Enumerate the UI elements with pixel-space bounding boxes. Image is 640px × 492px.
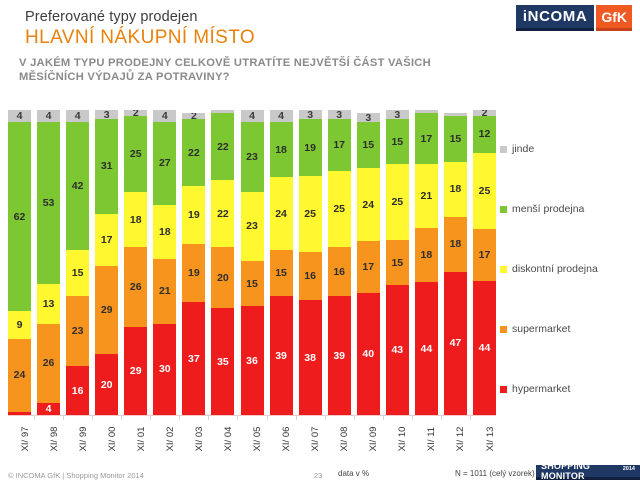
bar-segment-supermarket[interactable]: 15 — [270, 250, 293, 296]
x-axis-tick-label: XI/ 02 — [153, 419, 176, 463]
bar-column[interactable]: 442152316 — [66, 110, 89, 415]
bar-segment-hypermarket[interactable]: 43 — [386, 285, 409, 415]
stacked-bar-chart: 4629244531326444215231633117292022518262… — [8, 110, 496, 415]
x-axis-tick-label: XI/ 99 — [66, 419, 89, 463]
bar-segment-hypermarket[interactable]: 44 — [415, 282, 438, 415]
incoma-logo-text: iNCOMA — [516, 5, 594, 31]
legend-item-diskontní[interactable]: diskontní prodejna — [500, 263, 598, 275]
x-axis-tick-mark — [325, 415, 326, 420]
bar-segment-jinde[interactable]: 4 — [241, 110, 264, 122]
bar-segment-menší[interactable]: 15 — [357, 122, 380, 168]
bar-segment-diskontní[interactable]: 17 — [95, 214, 118, 266]
slide-footer: © INCOMA GfK | Shopping Monitor 2014 23 … — [0, 462, 640, 492]
bar-segment-hypermarket[interactable]: 4 — [37, 403, 60, 415]
bar-column[interactable]: 222191937 — [182, 110, 205, 415]
x-axis-tick-mark — [383, 415, 384, 420]
bar-segment-jinde[interactable]: 4 — [66, 110, 89, 122]
bar-segment-menší[interactable]: 17 — [415, 113, 438, 164]
bar-segment-menší[interactable]: 53 — [37, 122, 60, 284]
slide-header: Preferované typy prodejen HLAVNÍ NÁKUPNÍ… — [0, 0, 640, 92]
x-axis-tick-label: XI/ 06 — [270, 419, 293, 463]
x-axis-tick-label: XI/ 98 — [37, 419, 60, 463]
bar-segment-supermarket[interactable]: 18 — [415, 228, 438, 282]
bar-column[interactable]: 319251638 — [299, 110, 322, 415]
legend-label: jinde — [512, 143, 534, 155]
bar-segment-jinde[interactable]: 3 — [386, 110, 409, 119]
bar-segment-hypermarket[interactable]: 36 — [241, 306, 264, 415]
footer-sample-size: N = 1011 (celý vzorek) — [455, 469, 535, 478]
bar-segment-supermarket[interactable]: 16 — [328, 247, 351, 296]
x-axis-tick-label: XI/ 13 — [473, 419, 496, 463]
bar-segment-hypermarket[interactable]: 47 — [444, 272, 467, 415]
legend-label: diskontní prodejna — [512, 263, 598, 275]
bar-column[interactable]: 427182130 — [153, 110, 176, 415]
bar-segment-supermarket[interactable]: 19 — [182, 244, 205, 302]
bar-segment-supermarket[interactable]: 17 — [357, 241, 380, 293]
x-axis-tick-label: XI/ 11 — [415, 419, 438, 463]
question-subtitle: V JAKÉM TYPU PRODEJNY CELKOVĚ UTRATÍTE N… — [19, 56, 489, 84]
bar-column[interactable]: 418241539 — [270, 110, 293, 415]
bar-segment-jinde[interactable]: 4 — [37, 110, 60, 122]
legend-swatch-icon — [500, 266, 507, 273]
x-axis-tick-label: XI/ 97 — [8, 419, 31, 463]
bar-segment-diskontní[interactable]: 23 — [241, 192, 264, 261]
bar-segment-diskontní[interactable]: 24 — [357, 168, 380, 241]
x-axis-tick-label: XI/ 05 — [241, 419, 264, 463]
x-axis-tick-label: XI/ 04 — [211, 419, 234, 463]
x-axis-tick-mark — [441, 415, 442, 420]
legend-swatch-icon — [500, 386, 507, 393]
x-axis-tick-mark — [267, 415, 268, 420]
bar-segment-hypermarket[interactable]: 35 — [211, 308, 234, 415]
x-axis-tick-mark — [150, 415, 151, 420]
incoma-gfk-logo: iNCOMA GfK — [516, 5, 632, 31]
x-axis-line — [8, 415, 496, 416]
bar-segment-diskontní[interactable]: 9 — [8, 311, 31, 338]
bar-segment-supermarket[interactable]: 26 — [124, 247, 147, 326]
x-axis-tick-mark — [121, 415, 122, 420]
bar-segment-menší[interactable]: 15 — [386, 119, 409, 164]
page-title: HLAVNÍ NÁKUPNÍ MÍSTO — [25, 27, 255, 49]
bar-segment-supermarket[interactable]: 16 — [299, 252, 322, 300]
bar-segment-hypermarket[interactable]: 37 — [182, 302, 205, 415]
bar-segment-menší[interactable]: 42 — [66, 122, 89, 250]
bar-segment-diskontní[interactable]: 25 — [386, 164, 409, 240]
bar-segment-menší[interactable]: 62 — [8, 122, 31, 311]
bar-segment-hypermarket[interactable]: 39 — [270, 296, 293, 415]
legend-label: supermarket — [512, 323, 570, 335]
bar-segment-diskontní[interactable]: 13 — [37, 284, 60, 324]
bar-segment-menší[interactable]: 31 — [95, 119, 118, 214]
x-axis-tick-label: XI/ 03 — [182, 419, 205, 463]
bar-segment-jinde[interactable]: 4 — [153, 110, 176, 122]
gfk-logo-text: GfK — [596, 5, 632, 31]
bar-column[interactable]: 462924 — [8, 110, 31, 415]
bar-segment-jinde[interactable]: 3 — [357, 113, 380, 122]
bar-segment-supermarket[interactable]: 26 — [37, 324, 60, 403]
x-axis-tick-label: XI/ 10 — [386, 419, 409, 463]
bar-column[interactable]: 15181847 — [444, 110, 467, 415]
bar-segment-jinde[interactable]: 4 — [270, 110, 293, 122]
bar-column[interactable]: 22222035 — [211, 110, 234, 415]
bar-segment-hypermarket[interactable]: 16 — [66, 366, 89, 415]
bar-segment-menší[interactable]: 12 — [473, 116, 496, 153]
bar-segment-supermarket[interactable]: 15 — [386, 240, 409, 285]
bar-segment-diskontní[interactable]: 19 — [182, 186, 205, 244]
bar-segment-diskontní[interactable]: 18 — [153, 205, 176, 260]
legend-swatch-icon — [500, 206, 507, 213]
legend-item-hypermarket[interactable]: hypermarket — [500, 383, 570, 395]
bar-segment-menší[interactable]: 22 — [182, 119, 205, 186]
x-axis-tick-label: XI/ 09 — [357, 419, 380, 463]
bar-segment-jinde[interactable]: 3 — [328, 110, 351, 119]
x-axis-tick-mark — [92, 415, 93, 420]
badge-title: SHOPPING MONITOR — [541, 461, 621, 481]
legend-item-supermarket[interactable]: supermarket — [500, 323, 570, 335]
bar-segment-jinde[interactable]: 3 — [95, 110, 118, 119]
bar-column[interactable]: 225182629 — [124, 110, 147, 415]
x-axis-tick-label: XI/ 00 — [95, 419, 118, 463]
x-axis-tick-mark — [470, 415, 471, 420]
x-axis-tick-mark — [63, 415, 64, 420]
bar-column[interactable]: 317251639 — [328, 110, 351, 415]
legend-item-menší[interactable]: menší prodejna — [500, 203, 584, 215]
bar-segment-diskontní[interactable]: 18 — [444, 162, 467, 217]
bar-column[interactable]: 315251543 — [386, 110, 409, 415]
bar-segment-hypermarket[interactable]: 38 — [299, 300, 322, 415]
x-axis-tick-label: XI/ 08 — [328, 419, 351, 463]
bar-segment-supermarket[interactable]: 24 — [8, 339, 31, 412]
x-axis-tick-label: XI/ 01 — [124, 419, 147, 463]
bar-segment-hypermarket[interactable]: 44 — [473, 281, 496, 415]
bar-segment-diskontní[interactable]: 25 — [299, 176, 322, 252]
legend-item-jinde[interactable]: jinde — [500, 143, 534, 155]
x-axis-tick-mark — [179, 415, 180, 420]
bar-segment-jinde[interactable]: 4 — [8, 110, 31, 122]
badge-year: 2014 — [623, 466, 635, 472]
bar-segment-menší[interactable]: 18 — [270, 122, 293, 177]
x-axis-tick-mark — [208, 415, 209, 420]
x-axis-tick-label: XI/ 07 — [299, 419, 322, 463]
shopping-monitor-badge: SHOPPING MONITOR 2014 — [536, 465, 640, 480]
bar-segment-diskontní[interactable]: 25 — [473, 153, 496, 229]
bar-segment-menší[interactable]: 27 — [153, 122, 176, 204]
bar-segment-diskontní[interactable]: 21 — [415, 164, 438, 227]
legend-swatch-icon — [500, 326, 507, 333]
bar-segment-menší[interactable]: 22 — [211, 113, 234, 180]
legend-label: hypermarket — [512, 383, 570, 395]
bar-column[interactable]: 331172920 — [95, 110, 118, 415]
x-axis-tick-label: XI/ 12 — [444, 419, 467, 463]
bar-segment-menší[interactable]: 19 — [299, 119, 322, 176]
title-kicker: Preferované typy prodejen — [25, 9, 198, 25]
bar-column[interactable]: 315241740 — [357, 110, 380, 415]
bar-segment-supermarket[interactable]: 23 — [66, 296, 89, 366]
footer-page-number: 23 — [314, 471, 322, 480]
bar-segment-diskontní[interactable]: 15 — [66, 250, 89, 296]
x-axis-tick-mark — [412, 415, 413, 420]
legend-swatch-icon — [500, 146, 507, 153]
x-axis-tick-mark — [237, 415, 238, 420]
bar-column[interactable]: 17211844 — [415, 110, 438, 415]
x-axis-tick-mark — [34, 415, 35, 420]
bar-segment-hypermarket[interactable]: 39 — [328, 296, 351, 415]
bar-segment-menší[interactable]: 25 — [124, 116, 147, 192]
bar-segment-hypermarket[interactable]: 20 — [95, 354, 118, 415]
bar-segment-supermarket[interactable]: 18 — [444, 217, 467, 272]
bar-segment-diskontní[interactable]: 24 — [270, 177, 293, 250]
footer-data-unit-note: data v % — [338, 469, 369, 478]
legend-label: menší prodejna — [512, 203, 584, 215]
bar-segment-diskontní[interactable]: 25 — [328, 171, 351, 247]
bar-segment-supermarket[interactable]: 17 — [473, 229, 496, 281]
bar-column[interactable]: 212251744 — [473, 110, 496, 415]
bar-segment-diskontní[interactable]: 22 — [211, 180, 234, 247]
bar-segment-hypermarket[interactable]: 40 — [357, 293, 380, 415]
bar-segment-hypermarket[interactable]: 29 — [124, 327, 147, 415]
bar-segment-menší[interactable]: 23 — [241, 122, 264, 191]
bar-column[interactable]: 45313264 — [37, 110, 60, 415]
bar-column[interactable]: 423231536 — [241, 110, 264, 415]
bar-segment-jinde[interactable]: 3 — [299, 110, 322, 119]
footer-copyright: © INCOMA GfK | Shopping Monitor 2014 — [8, 471, 144, 480]
bar-segment-supermarket[interactable]: 20 — [211, 247, 234, 308]
bar-segment-hypermarket[interactable]: 30 — [153, 324, 176, 416]
bar-segment-menší[interactable]: 15 — [444, 116, 467, 162]
bar-segment-supermarket[interactable]: 29 — [95, 266, 118, 354]
x-axis-tick-mark — [354, 415, 355, 420]
bar-segment-supermarket[interactable]: 15 — [241, 261, 264, 306]
bar-segment-menší[interactable]: 17 — [328, 119, 351, 171]
x-axis-tick-mark — [296, 415, 297, 420]
bar-segment-supermarket[interactable]: 21 — [153, 259, 176, 323]
bar-segment-diskontní[interactable]: 18 — [124, 192, 147, 247]
